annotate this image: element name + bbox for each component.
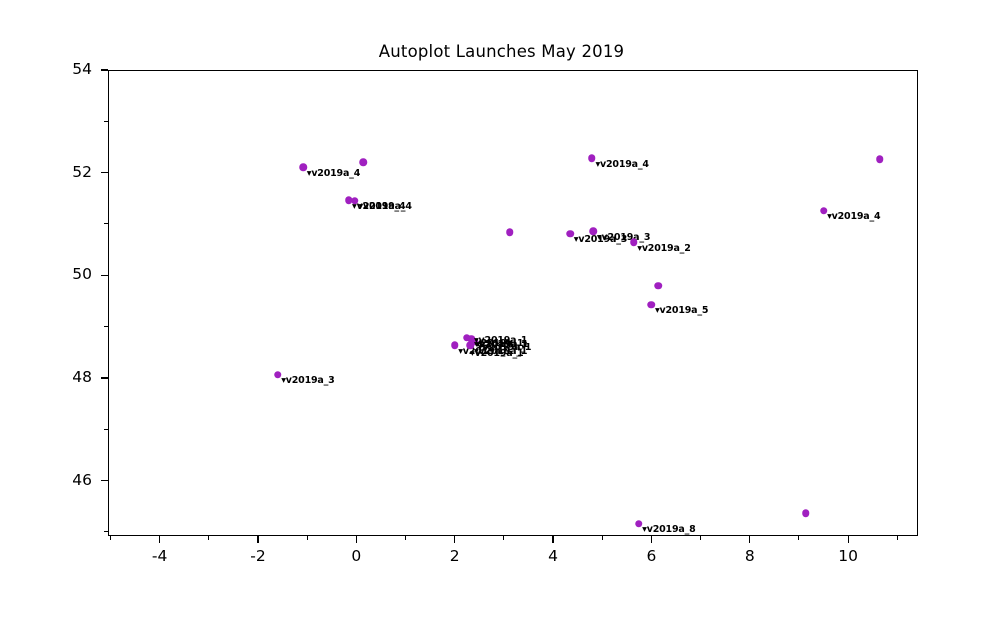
y-tick-minor bbox=[104, 223, 108, 224]
data-point-label: ▾v2019a_4 bbox=[595, 159, 648, 170]
x-tick-label: 8 bbox=[720, 547, 780, 565]
x-tick-minor bbox=[110, 536, 111, 540]
data-point-label: ▾v2019a_1 bbox=[470, 348, 523, 359]
x-tick-major bbox=[651, 536, 652, 543]
x-tick-label: -2 bbox=[228, 547, 288, 565]
y-tick-major bbox=[101, 275, 108, 276]
y-tick-major bbox=[101, 480, 108, 481]
data-point-label: ▾v2019a_5 bbox=[655, 305, 708, 316]
x-tick-minor bbox=[405, 536, 406, 540]
data-point-label: ▾v2019a_3 bbox=[597, 232, 650, 243]
data-point-label: ▾v2019a_4 bbox=[827, 211, 880, 222]
y-tick-label: 54 bbox=[30, 60, 92, 78]
data-point[interactable] bbox=[876, 156, 884, 164]
data-point[interactable] bbox=[360, 159, 368, 167]
plot-area: ▾v2019a_4▾v2019a_4▾v2019a_4▾v2019a_4▾v20… bbox=[108, 70, 918, 536]
data-point[interactable] bbox=[506, 228, 514, 236]
y-tick-major bbox=[101, 69, 108, 70]
data-point-label: ▾v2019a_4 bbox=[358, 201, 411, 212]
x-tick-minor bbox=[503, 536, 504, 540]
x-tick-major bbox=[257, 536, 258, 543]
data-point[interactable] bbox=[802, 510, 810, 518]
x-tick-minor bbox=[602, 536, 603, 540]
data-point[interactable] bbox=[655, 282, 663, 290]
x-tick-major bbox=[356, 536, 357, 543]
coastline-map bbox=[109, 71, 917, 535]
data-point-label: ▾v2019a_8 bbox=[642, 524, 695, 535]
x-tick-minor bbox=[208, 536, 209, 540]
x-tick-label: 2 bbox=[425, 547, 485, 565]
x-tick-major bbox=[848, 536, 849, 543]
data-point-label: ▾v2019a_3 bbox=[281, 375, 334, 386]
y-tick-label: 48 bbox=[30, 368, 92, 386]
x-tick-major bbox=[159, 536, 160, 543]
x-tick-minor bbox=[897, 536, 898, 540]
x-tick-label: 10 bbox=[818, 547, 878, 565]
chart-canvas: Autoplot Launches May 2019 bbox=[0, 0, 1003, 633]
x-tick-minor bbox=[307, 536, 308, 540]
y-tick-major bbox=[101, 172, 108, 173]
x-tick-label: 0 bbox=[326, 547, 386, 565]
x-tick-minor bbox=[700, 536, 701, 540]
data-point-label: ▾v2019a_2 bbox=[637, 243, 690, 254]
y-tick-minor bbox=[104, 121, 108, 122]
y-tick-label: 50 bbox=[30, 265, 92, 283]
y-tick-minor bbox=[104, 429, 108, 430]
y-tick-major bbox=[101, 377, 108, 378]
y-tick-label: 52 bbox=[30, 163, 92, 181]
x-tick-label: 6 bbox=[621, 547, 681, 565]
chart-title: Autoplot Launches May 2019 bbox=[0, 42, 1003, 61]
x-tick-major bbox=[454, 536, 455, 543]
y-tick-minor bbox=[104, 326, 108, 327]
x-tick-major bbox=[749, 536, 750, 543]
x-tick-label: 4 bbox=[523, 547, 583, 565]
data-point-label: ▾v2019a_4 bbox=[307, 168, 360, 179]
x-tick-major bbox=[552, 536, 553, 543]
x-tick-minor bbox=[798, 536, 799, 540]
x-tick-label: -4 bbox=[130, 547, 190, 565]
y-tick-label: 46 bbox=[30, 471, 92, 489]
y-tick-minor bbox=[104, 531, 108, 532]
